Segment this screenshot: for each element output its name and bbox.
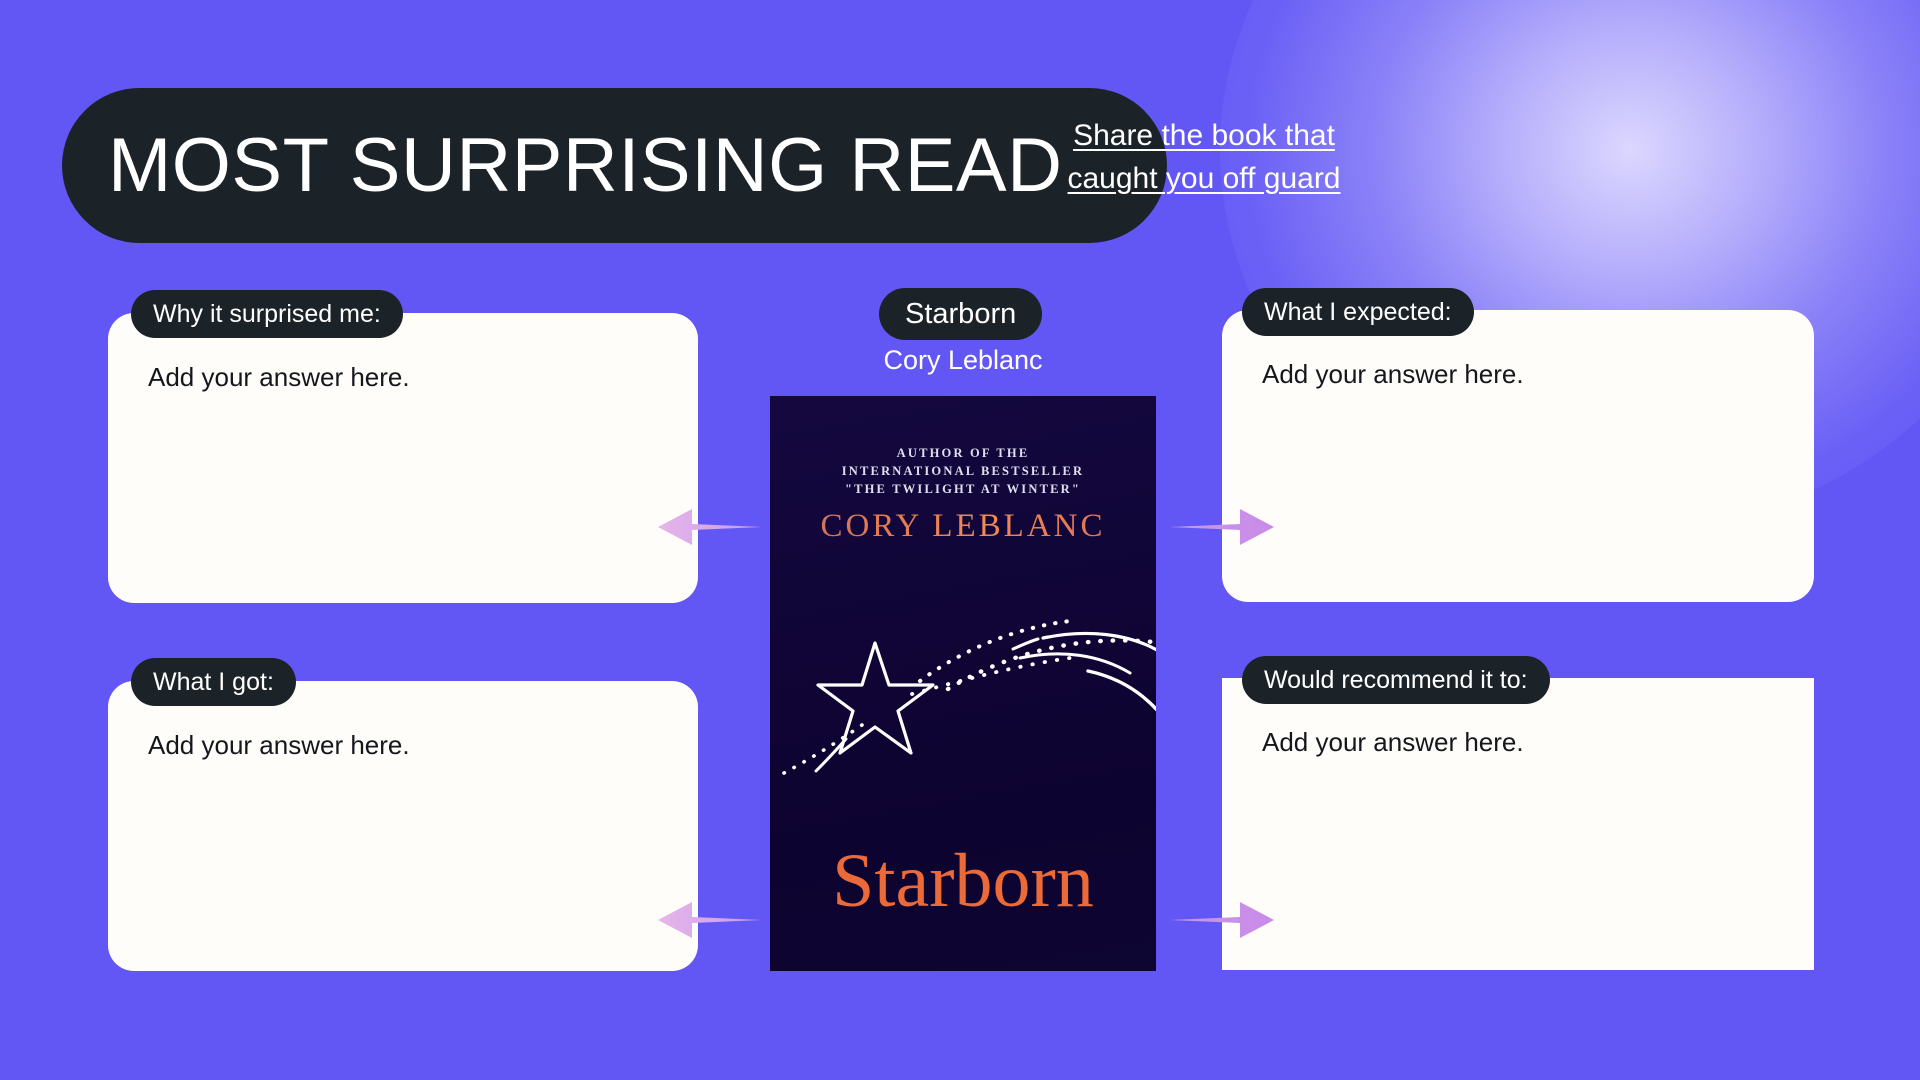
cover-book-title: Starborn: [770, 843, 1156, 919]
cover-author-name: CORY LEBLANC: [770, 508, 1156, 545]
label-why-it-surprised-me: Why it surprised me:: [131, 290, 403, 338]
subtitle-line-1: Share the book that: [1073, 119, 1335, 152]
book-author-name: Cory Leblanc: [770, 345, 1156, 376]
label-text-recommend: Would recommend it to:: [1264, 668, 1528, 693]
label-would-recommend-it-to: Would recommend it to:: [1242, 656, 1550, 704]
page-title: MOST SURPRISING READ: [108, 128, 1063, 204]
answer-text-recommend[interactable]: Add your answer here.: [1262, 726, 1524, 760]
label-text-got: What I got:: [153, 670, 274, 695]
answer-card-what-i-expected[interactable]: Add your answer here.: [1222, 310, 1814, 602]
arrow-right-icon: [1170, 898, 1280, 942]
answer-text-expected[interactable]: Add your answer here.: [1262, 358, 1524, 392]
subtitle-line-2: caught you off guard: [1068, 162, 1341, 195]
cover-credit-line-3: "THE TWILIGHT AT WINTER": [770, 482, 1156, 497]
label-what-i-expected: What I expected:: [1242, 288, 1474, 336]
answer-card-would-recommend-it-to[interactable]: Add your answer here.: [1222, 678, 1814, 970]
label-text-expected: What I expected:: [1264, 300, 1452, 325]
arrow-left-icon: [652, 505, 762, 549]
book-title-text: Starborn: [905, 300, 1016, 329]
answer-card-what-i-got[interactable]: Add your answer here.: [108, 681, 698, 971]
arrow-left-icon: [652, 898, 762, 942]
label-what-i-got: What I got:: [131, 658, 296, 706]
answer-card-why-it-surprised-me[interactable]: Add your answer here.: [108, 313, 698, 603]
book-title-pill: Starborn: [879, 288, 1042, 340]
page-title-pill: MOST SURPRISING READ: [62, 88, 1167, 243]
cover-credit-line-1: AUTHOR OF THE: [770, 446, 1156, 461]
label-text-why: Why it surprised me:: [153, 302, 381, 327]
arrow-right-icon: [1170, 505, 1280, 549]
book-cover-image[interactable]: AUTHOR OF THE INTERNATIONAL BESTSELLER "…: [770, 396, 1156, 971]
answer-text-got[interactable]: Add your answer here.: [148, 729, 410, 763]
answer-text-why[interactable]: Add your answer here.: [148, 361, 410, 395]
cover-credit-line-2: INTERNATIONAL BESTSELLER: [770, 464, 1156, 479]
subtitle-link[interactable]: Share the book that caught you off guard: [1024, 115, 1384, 200]
shooting-star-icon: [770, 561, 1156, 851]
